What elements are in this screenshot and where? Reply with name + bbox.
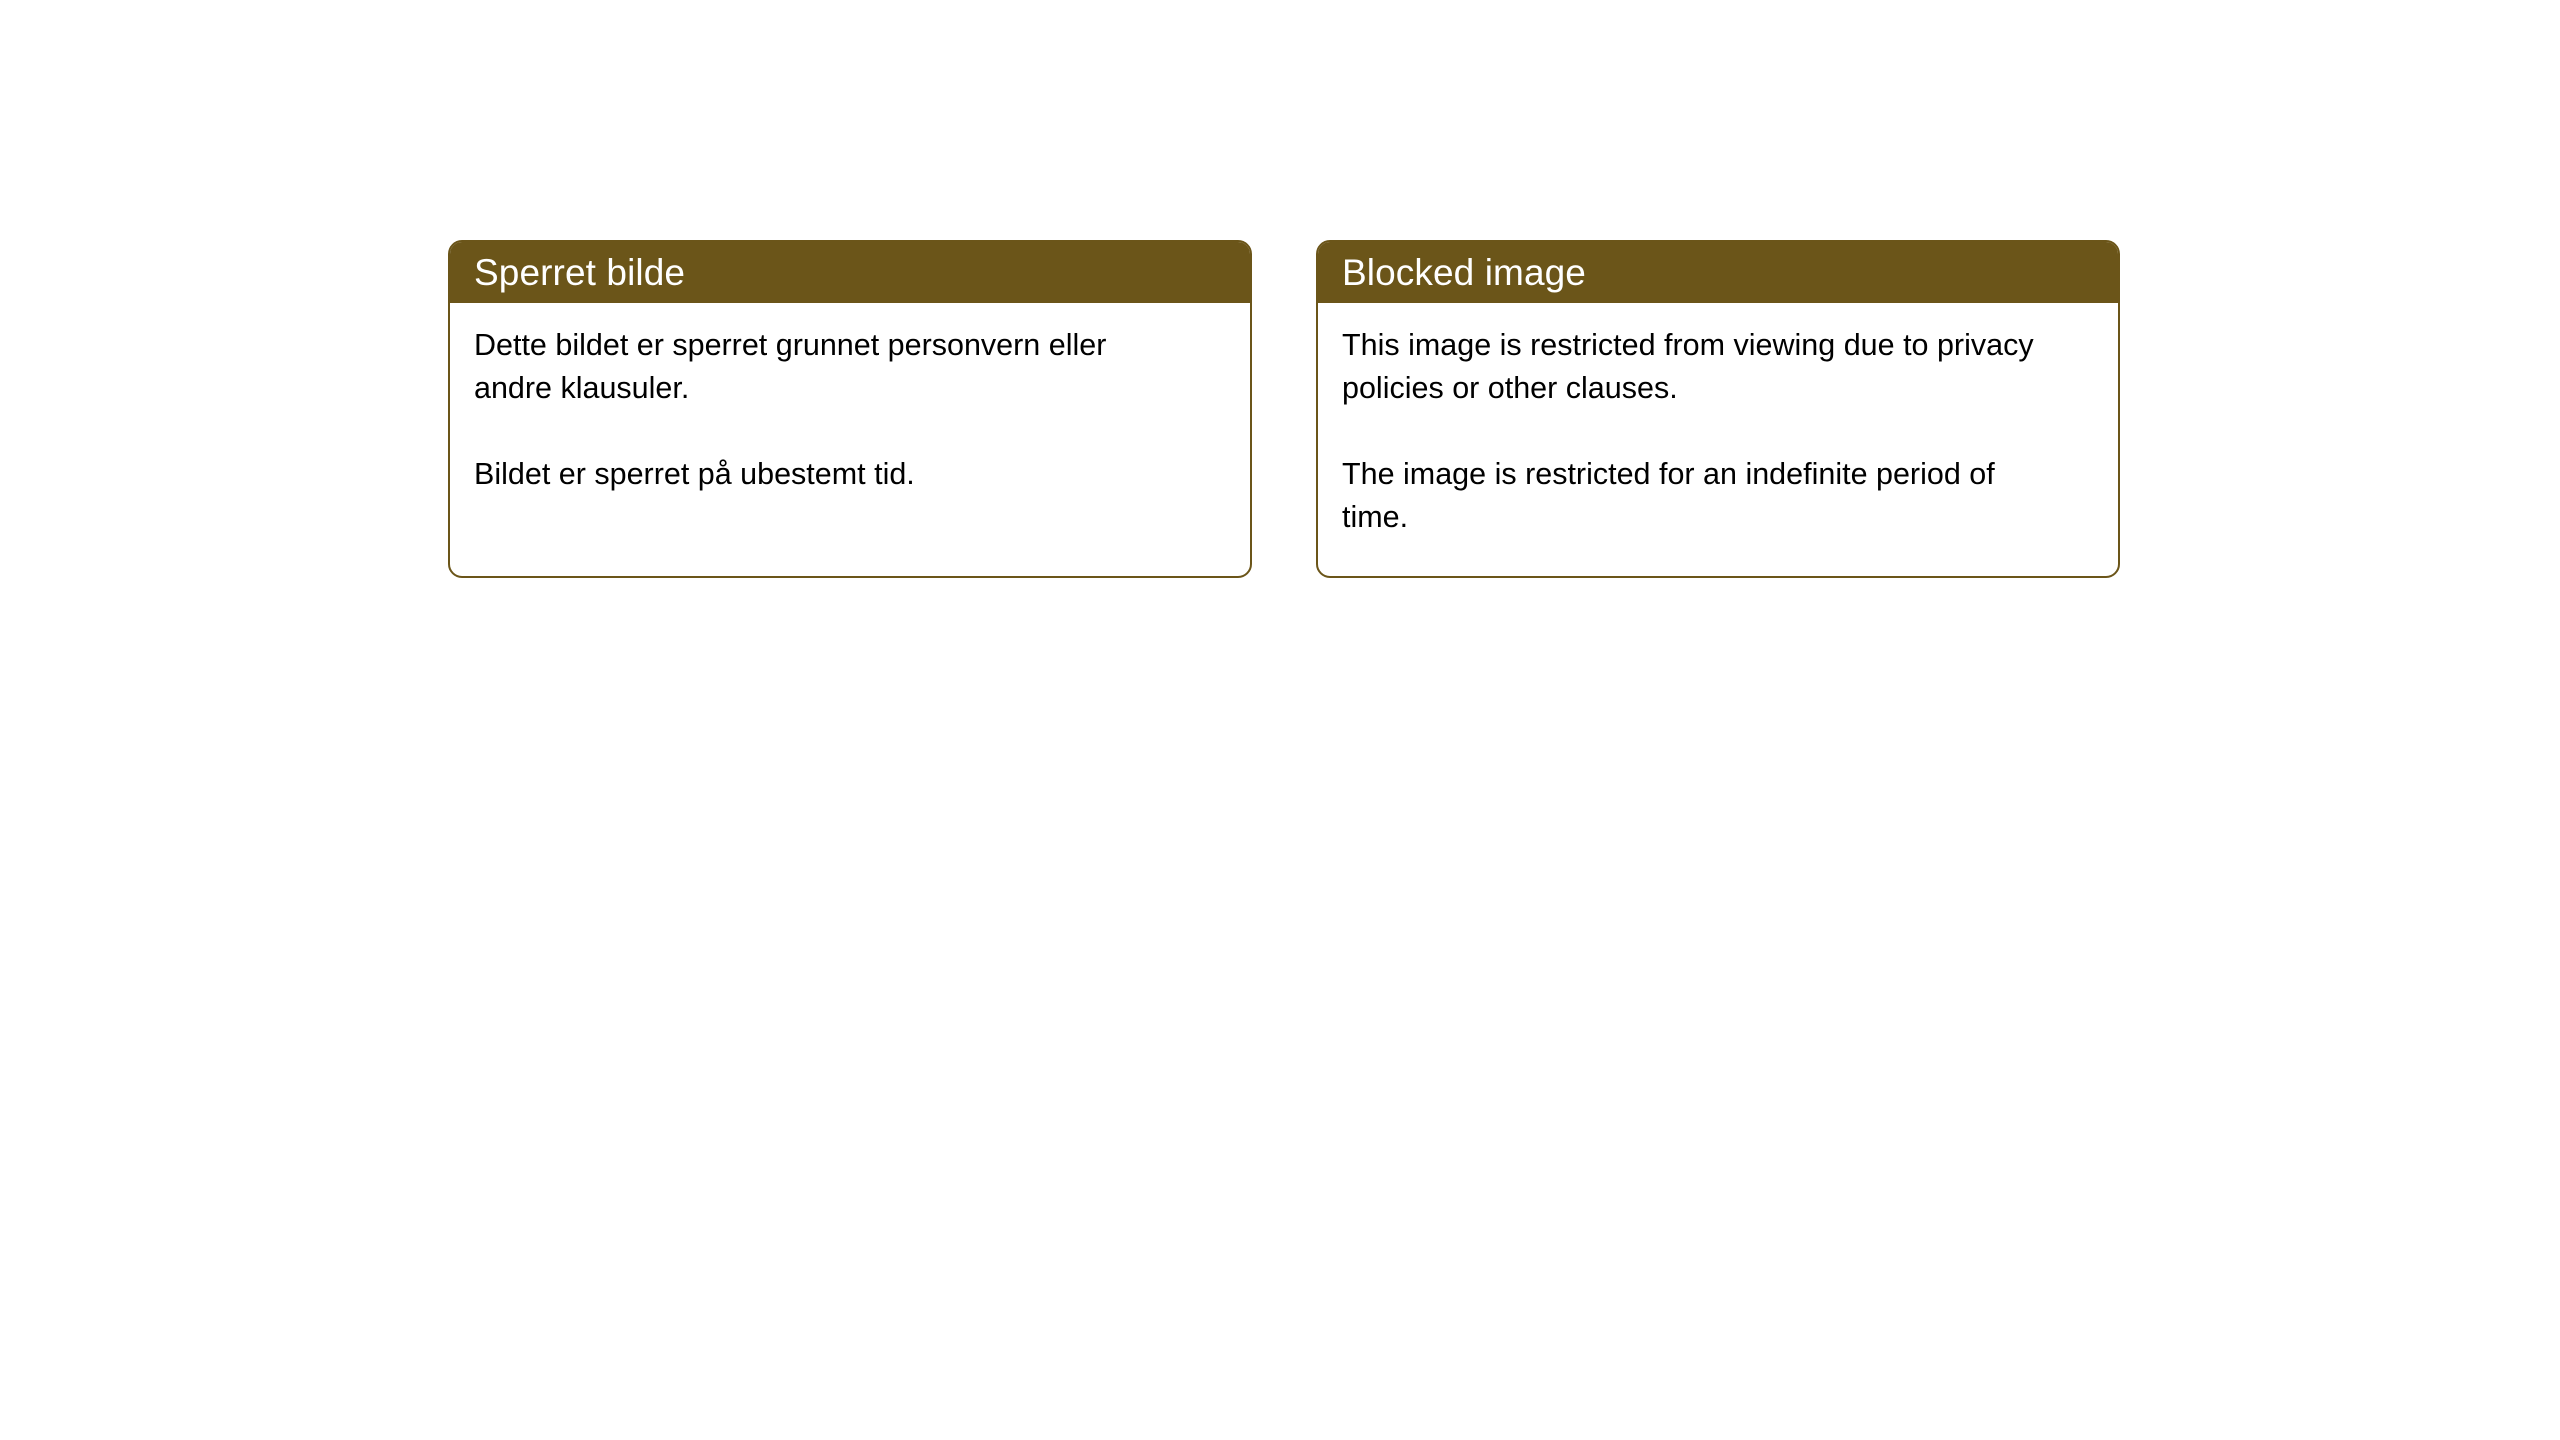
blocked-image-notice-card-english: Blocked image This image is restricted f… bbox=[1316, 240, 2120, 578]
notice-paragraph-duration: Bildet er sperret på ubestemt tid. bbox=[474, 453, 1189, 496]
notice-card-header: Sperret bilde bbox=[450, 242, 1250, 303]
notice-paragraph-duration: The image is restricted for an indefinit… bbox=[1342, 453, 2057, 539]
notice-card-body: Dette bildet er sperret grunnet personve… bbox=[450, 303, 1250, 520]
notice-paragraph-reason: This image is restricted from viewing du… bbox=[1342, 324, 2057, 410]
page-canvas: Sperret bilde Dette bildet er sperret gr… bbox=[0, 0, 2560, 1440]
paragraph-spacer bbox=[1342, 410, 2094, 453]
notice-card-header: Blocked image bbox=[1318, 242, 2118, 303]
notice-card-body: This image is restricted from viewing du… bbox=[1318, 303, 2118, 563]
notice-card-title: Blocked image bbox=[1342, 254, 1586, 291]
paragraph-spacer bbox=[474, 410, 1226, 453]
notice-card-title: Sperret bilde bbox=[474, 254, 685, 291]
notice-paragraph-reason: Dette bildet er sperret grunnet personve… bbox=[474, 324, 1189, 410]
blocked-image-notice-card-norwegian: Sperret bilde Dette bildet er sperret gr… bbox=[448, 240, 1252, 578]
